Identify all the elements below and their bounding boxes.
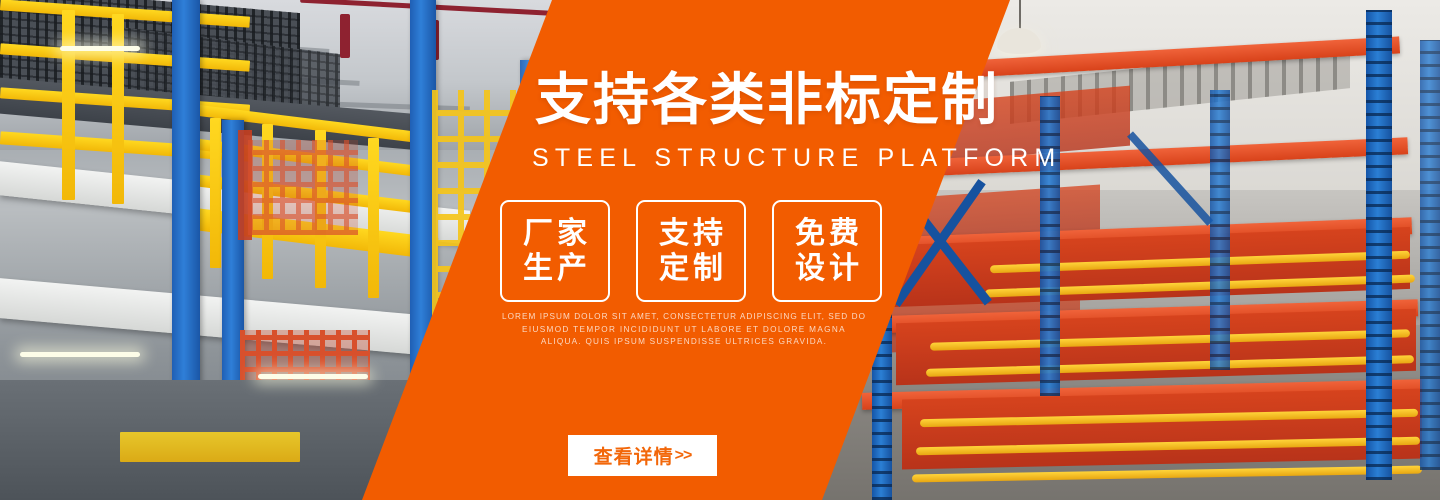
cta-label: 查看详情 [594, 442, 674, 469]
badge-free-design: 免费 设计 [772, 200, 882, 302]
description-line-2: eiusmod tempor incididunt ut labore et d… [500, 324, 868, 337]
chevron-right-icon: >> [675, 447, 692, 465]
badge-line-1: 免费 [791, 216, 863, 251]
description-line-1: Lorem ipsum dolor sit amet, consectetur … [500, 311, 868, 324]
banner-content: 支持各类非标定制 STEEL STRUCTURE PLATFORM 厂家 生产 … [0, 0, 1440, 500]
badge-manufacturer: 厂家 生产 [500, 200, 610, 302]
badge-line-2: 设计 [791, 251, 863, 286]
description-text: Lorem ipsum dolor sit amet, consectetur … [500, 311, 868, 349]
subtitle: STEEL STRUCTURE PLATFORM [532, 144, 1061, 173]
view-details-button[interactable]: 查看详情>> [568, 435, 717, 476]
badge-line-2: 生产 [519, 251, 591, 286]
badge-line-1: 厂家 [519, 216, 591, 251]
promo-banner: 支持各类非标定制 STEEL STRUCTURE PLATFORM 厂家 生产 … [0, 0, 1440, 500]
badge-line-1: 支持 [655, 216, 727, 251]
badge-line-2: 定制 [655, 251, 727, 286]
page-title: 支持各类非标定制 [535, 72, 999, 128]
badge-customization: 支持 定制 [636, 200, 746, 302]
description-line-3: aliqua. Quis ipsum suspendisse ultrices … [500, 336, 868, 349]
feature-badges: 厂家 生产 支持 定制 免费 设计 [500, 200, 882, 302]
